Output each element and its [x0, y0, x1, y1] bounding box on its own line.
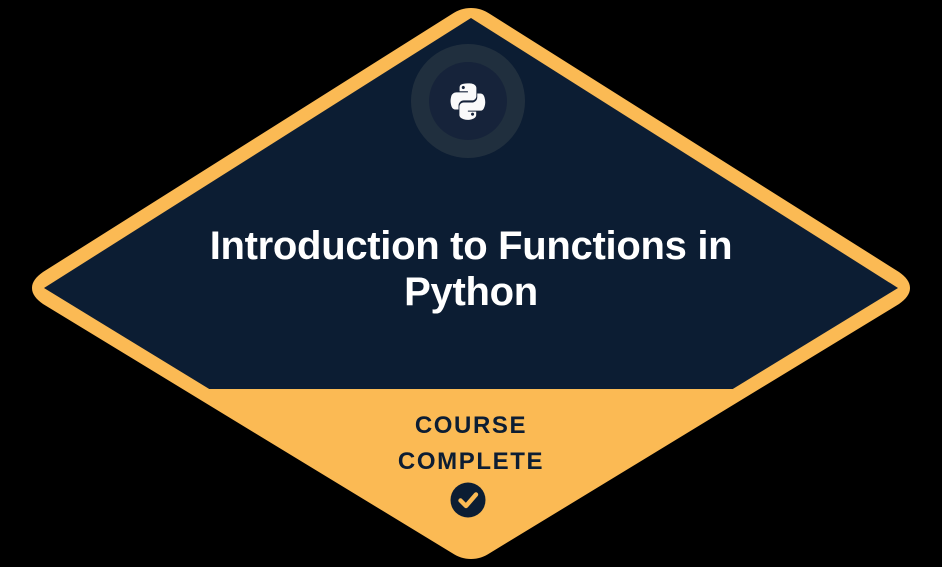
check-circle-icon: [451, 483, 486, 518]
badge-graphic: [0, 0, 942, 567]
course-completion-badge: Introduction to Functions in Python COUR…: [0, 0, 942, 567]
halo-inner-circle: [429, 62, 507, 140]
